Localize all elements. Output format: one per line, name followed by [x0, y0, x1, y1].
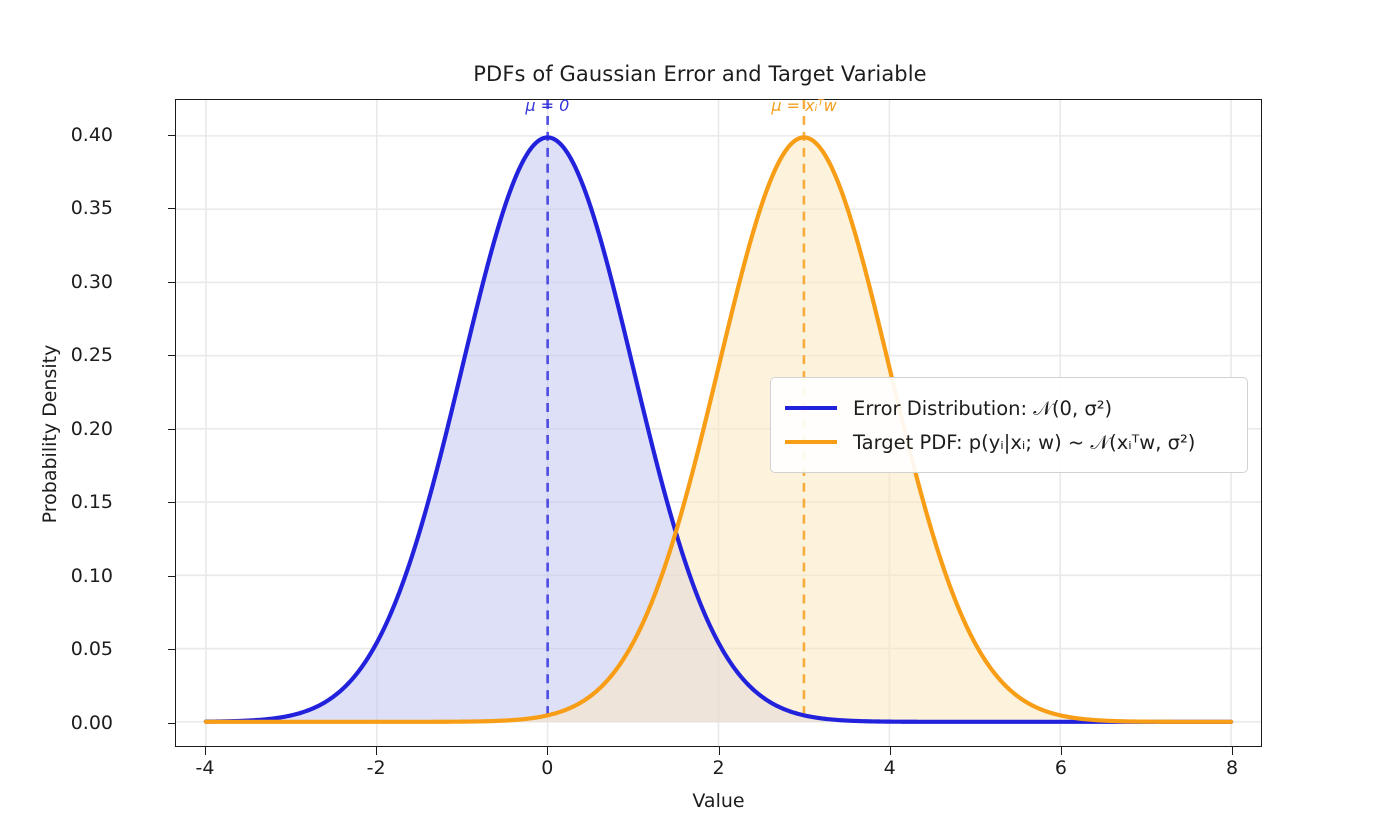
x-axis-label: Value [175, 790, 1262, 812]
y-tick-label: 0.40 [0, 124, 113, 146]
x-tick-mark [376, 747, 377, 755]
chart-legend: Error Distribution: 𝒩(0, σ²) Target PDF:… [770, 377, 1248, 473]
x-tick-label: 6 [1001, 757, 1121, 779]
x-tick-label: -2 [316, 757, 436, 779]
y-tick-label: 0.25 [0, 344, 113, 366]
legend-swatch-error [785, 406, 837, 410]
y-tick-label: 0.30 [0, 271, 113, 293]
x-tick-mark [890, 747, 891, 755]
legend-label-error: Error Distribution: 𝒩(0, σ²) [853, 397, 1112, 420]
y-tick-label: 0.00 [0, 712, 113, 734]
chart-title: PDFs of Gaussian Error and Target Variab… [0, 62, 1400, 86]
chart-figure: PDFs of Gaussian Error and Target Variab… [0, 0, 1400, 840]
x-tick-label: 2 [659, 757, 779, 779]
y-tick-label: 0.35 [0, 197, 113, 219]
y-tick-label: 0.10 [0, 565, 113, 587]
x-tick-label: -4 [145, 757, 265, 779]
y-tick-label: 0.05 [0, 638, 113, 660]
y-tick-label: 0.20 [0, 418, 113, 440]
mean-annotation-target: μ = xᵢᵀw [771, 96, 836, 115]
x-tick-label: 4 [830, 757, 950, 779]
y-tick-label: 0.15 [0, 491, 113, 513]
x-tick-mark [205, 747, 206, 755]
legend-label-target: Target PDF: p(yᵢ|xᵢ; w) ~ 𝒩(xᵢᵀw, σ²) [853, 431, 1195, 454]
x-tick-label: 8 [1172, 757, 1292, 779]
x-tick-mark [547, 747, 548, 755]
x-tick-mark [1232, 747, 1233, 755]
mean-annotation-error: μ = 0 [525, 96, 569, 115]
x-tick-label: 0 [487, 757, 607, 779]
x-tick-mark [1061, 747, 1062, 755]
x-tick-mark [719, 747, 720, 755]
legend-item-error[interactable]: Error Distribution: 𝒩(0, σ²) [785, 391, 1231, 425]
legend-item-target[interactable]: Target PDF: p(yᵢ|xᵢ; w) ~ 𝒩(xᵢᵀw, σ²) [785, 425, 1231, 459]
legend-swatch-target [785, 440, 837, 444]
